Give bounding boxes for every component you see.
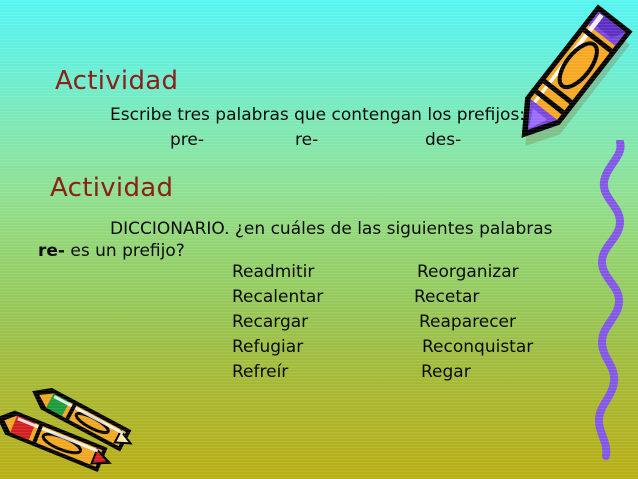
word-item: Recetar <box>414 287 479 307</box>
word-list: Readmitir Recalentar Recargar Refugiar R… <box>0 0 638 479</box>
word-item: Reorganizar <box>417 262 519 282</box>
word-item: Reaparecer <box>419 312 516 332</box>
word-item: Refugiar <box>232 337 303 357</box>
slide-canvas: Actividad Escribe tres palabras que cont… <box>0 0 638 479</box>
word-item: Regar <box>421 362 471 382</box>
word-item: Reconquistar <box>422 337 533 357</box>
word-item: Recargar <box>232 312 308 332</box>
word-item: Readmitir <box>232 262 314 282</box>
word-item: Recalentar <box>232 287 323 307</box>
word-item: Refreír <box>232 362 288 382</box>
